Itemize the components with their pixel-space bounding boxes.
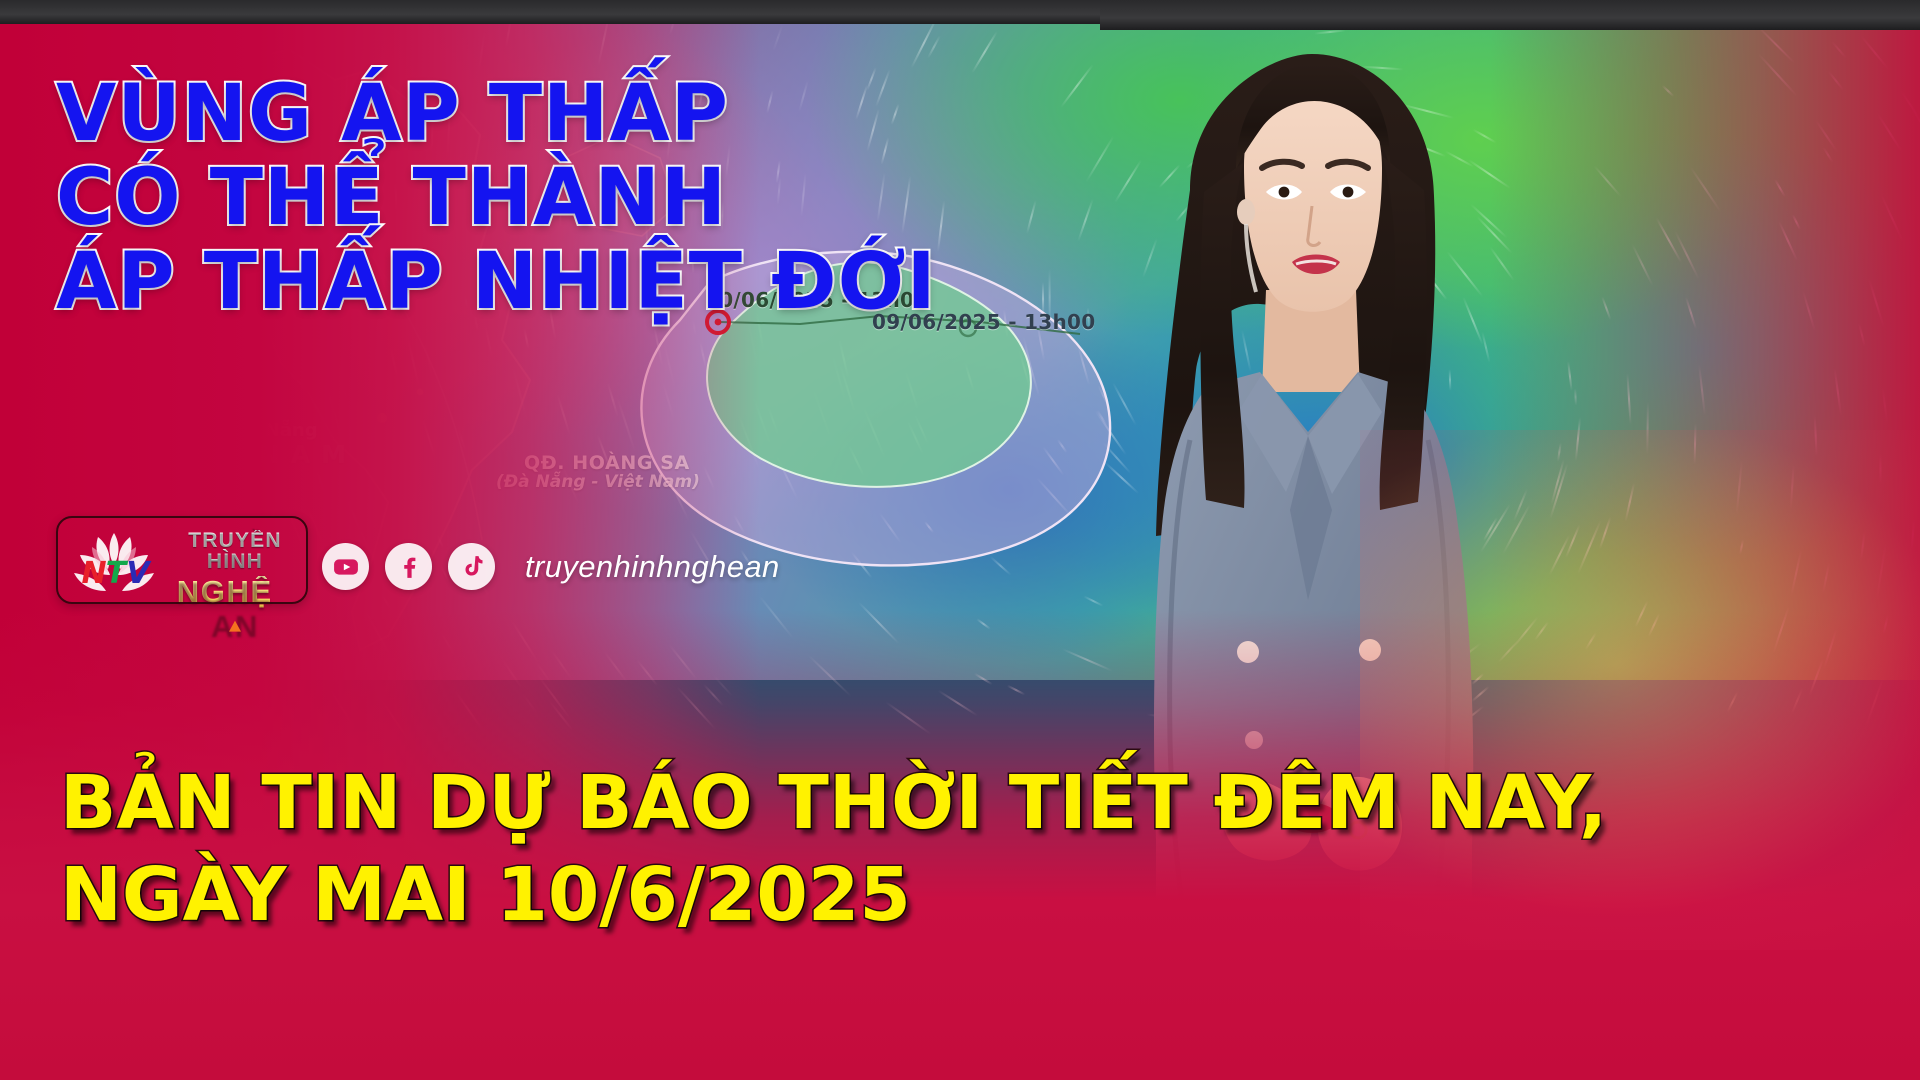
- screen-bezel-right: [1100, 0, 1920, 30]
- tiktok-button[interactable]: [448, 543, 495, 590]
- social-handle: truyenhinhnghean: [525, 549, 780, 585]
- youtube-icon: [333, 554, 359, 580]
- headline-line-3: ÁP THẤP NHIỆT ĐỚI: [56, 242, 937, 324]
- sub-headline: BẢN TIN DỰ BÁO THỜI TIẾT ĐÊM NAY, NGÀY M…: [60, 758, 1607, 942]
- logo-line-2: NGHỆ AN: [164, 576, 306, 641]
- subheadline-line-2: NGÀY MAI 10/6/2025: [60, 850, 1607, 942]
- facebook-button[interactable]: [385, 543, 432, 590]
- ntv-logo-lockup: N T V TRUYỀN HÌNH NGHỆ AN: [56, 516, 308, 604]
- subheadline-line-1: BẢN TIN DỰ BÁO THỜI TIẾT ĐÊM NAY,: [60, 758, 1607, 850]
- thumbnail-canvas: 10/06/2025 - 13h00 09/06/2025 - 13h00 TP…: [0, 0, 1920, 1080]
- ntv-logo-mark: N T V: [68, 529, 164, 595]
- svg-text:V: V: [126, 556, 152, 591]
- social-row: truyenhinhnghean: [322, 543, 780, 590]
- tiktok-icon: [459, 554, 485, 580]
- headline-line-2: CÓ THỂ THÀNH: [56, 158, 937, 240]
- svg-text:T: T: [106, 556, 129, 591]
- logo-line-2-part-1: NGHỆ: [177, 574, 273, 609]
- logo-line-1: TRUYỀN HÌNH: [164, 530, 306, 572]
- ntv-logo-text: TRUYỀN HÌNH NGHỆ AN: [164, 530, 306, 641]
- svg-text:N: N: [81, 556, 106, 591]
- headline-line-1: VÙNG ÁP THẤP: [56, 74, 937, 156]
- youtube-button[interactable]: [322, 543, 369, 590]
- logo-line-2-part-2: AN: [211, 607, 259, 642]
- main-headline: VÙNG ÁP THẤP CÓ THỂ THÀNH ÁP THẤP NHIỆT …: [56, 74, 937, 326]
- facebook-icon: [396, 554, 422, 580]
